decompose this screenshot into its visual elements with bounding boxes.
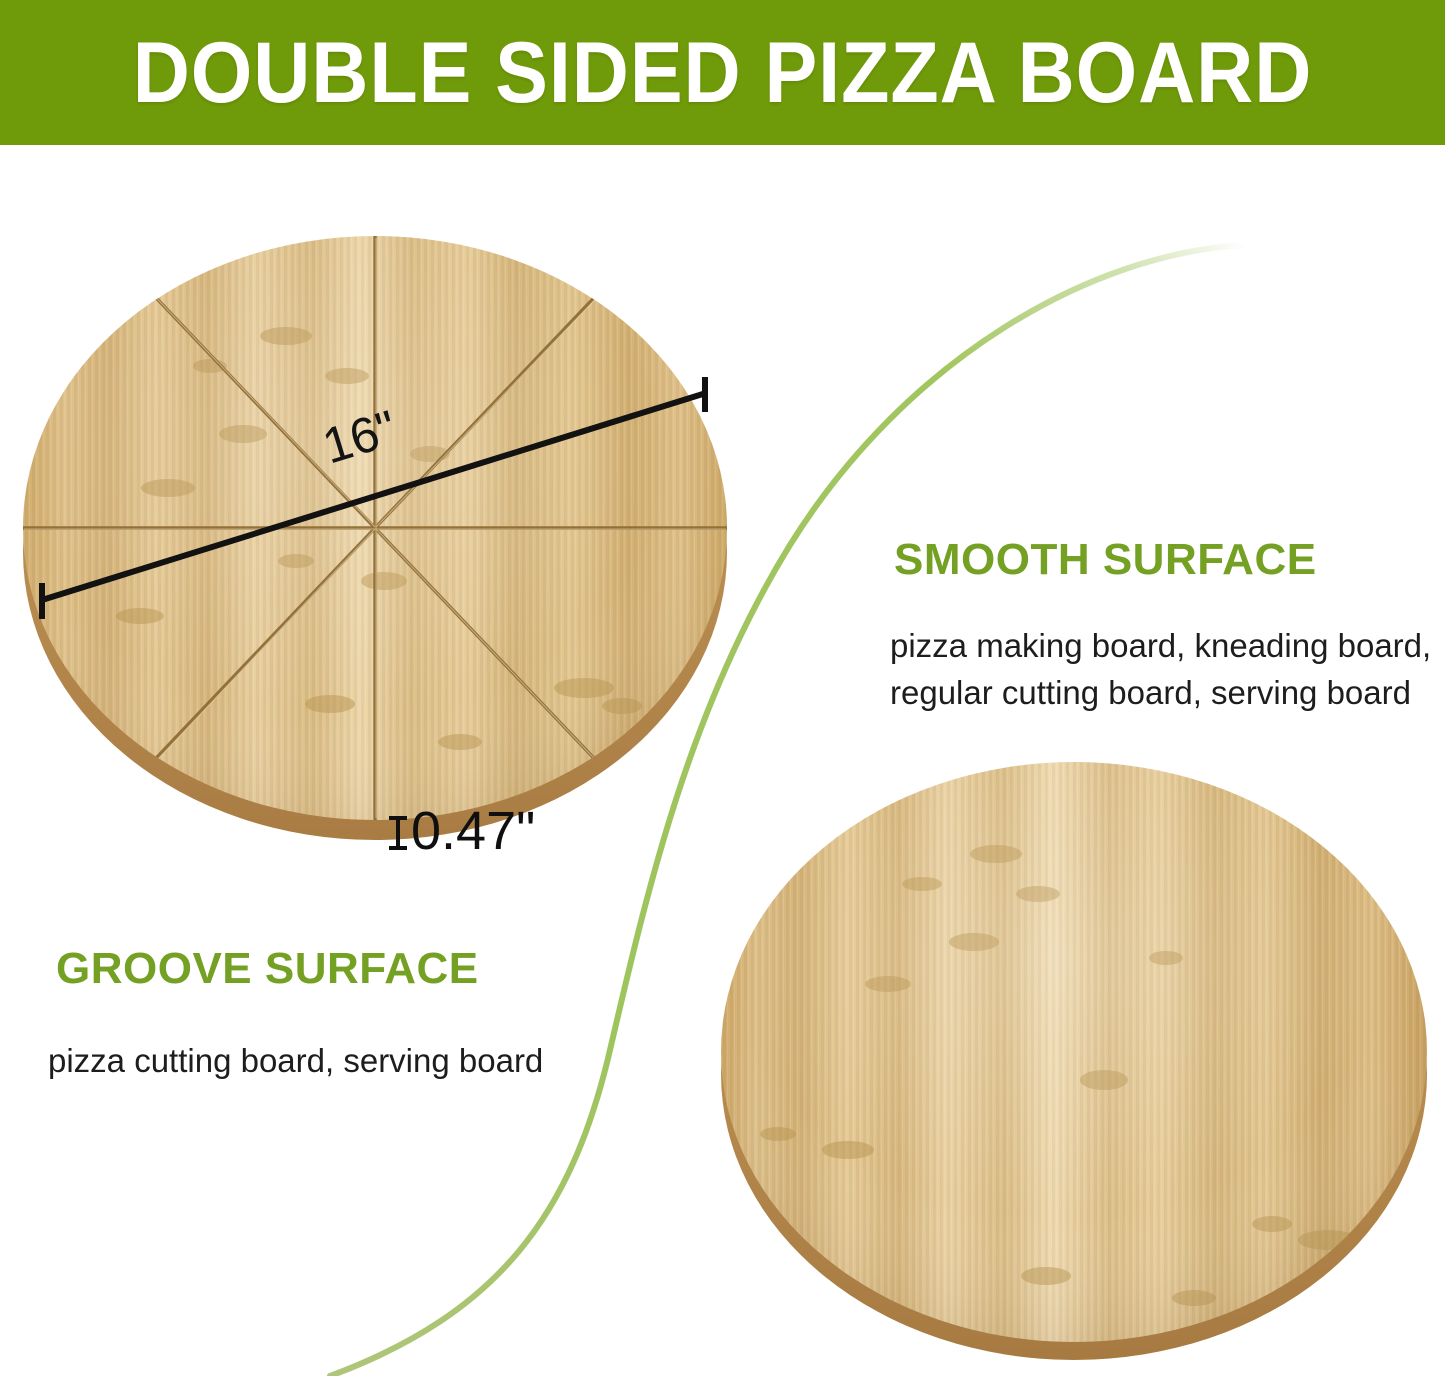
feature-description-groove: pizza cutting board, serving board — [48, 1038, 543, 1085]
feature-description-smooth-line1: pizza making board, kneading board, — [890, 623, 1431, 670]
banner-title: DOUBLE SIDED PIZZA BOARD — [58, 0, 1387, 145]
feature-heading-smooth: SMOOTH SURFACE — [894, 535, 1317, 585]
feature-description-smooth-line2: regular cutting board, serving board — [890, 670, 1431, 717]
thickness-dimension-marker: 0.47" — [386, 804, 535, 858]
header-banner: DOUBLE SIDED PIZZA BOARD — [0, 0, 1445, 145]
grooved-pizza-board-image — [18, 236, 732, 840]
feature-description-smooth: pizza making board, kneading board, regu… — [890, 623, 1431, 717]
feature-heading-groove: GROOVE SURFACE — [56, 944, 479, 994]
thickness-label: 0.47" — [411, 804, 535, 858]
i-beam-marker-icon — [386, 804, 410, 858]
product-infographic: DOUBLE SIDED PIZZA BOARD — [0, 0, 1445, 1376]
smooth-pizza-board-image — [716, 762, 1432, 1362]
